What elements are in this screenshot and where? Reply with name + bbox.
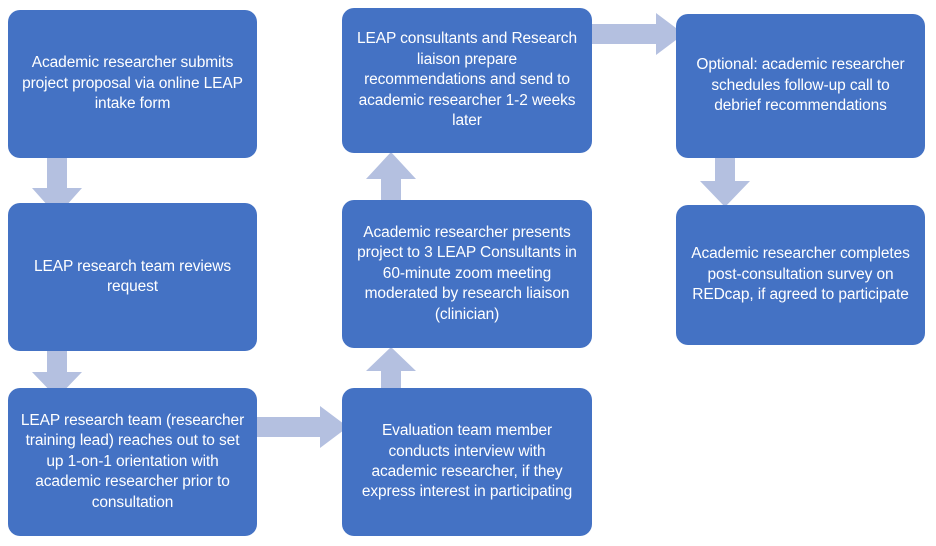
arrow-up-icon-interview-to-presentation (366, 347, 416, 391)
arrow-right-icon-recommendations-to-followup (592, 13, 684, 55)
node-presentation[interactable]: Academic researcher presents project to … (342, 200, 592, 348)
node-orientation-label: LEAP research team (researcher training … (20, 411, 245, 513)
node-review[interactable]: LEAP research team reviews request (8, 203, 257, 351)
node-orientation[interactable]: LEAP research team (researcher training … (8, 388, 257, 536)
node-followup-label: Optional: academic researcher schedules … (688, 55, 913, 116)
node-followup[interactable]: Optional: academic researcher schedules … (676, 14, 925, 158)
arrow-down-icon-followup-to-survey (700, 157, 750, 207)
node-intake-label: Academic researcher submits project prop… (20, 53, 245, 114)
node-interview[interactable]: Evaluation team member conducts intervie… (342, 388, 592, 536)
node-survey[interactable]: Academic researcher completes post-consu… (676, 205, 925, 345)
arrow-up-icon-presentation-to-recommendations (366, 152, 416, 202)
flowchart-canvas: Academic researcher submits project prop… (0, 0, 936, 546)
node-intake[interactable]: Academic researcher submits project prop… (8, 10, 257, 158)
node-survey-label: Academic researcher completes post-consu… (688, 244, 913, 305)
node-recommendations[interactable]: LEAP consultants and Research liaison pr… (342, 8, 592, 153)
node-interview-label: Evaluation team member conducts intervie… (354, 421, 580, 503)
node-presentation-label: Academic researcher presents project to … (354, 223, 580, 325)
arrow-right-icon-orientation-to-interview (256, 406, 348, 448)
node-recommendations-label: LEAP consultants and Research liaison pr… (354, 29, 580, 131)
node-review-label: LEAP research team reviews request (20, 257, 245, 298)
